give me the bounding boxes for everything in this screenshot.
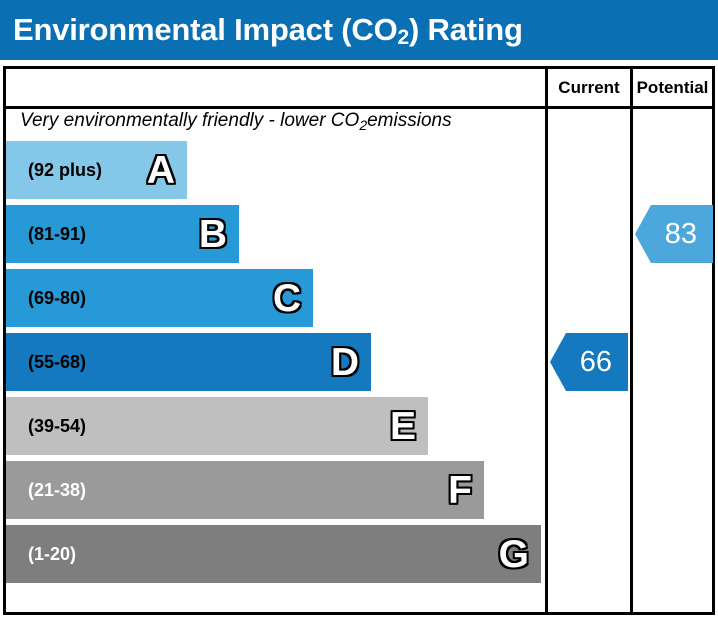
caption-top-tail: emissions <box>367 110 451 132</box>
page-title: Environmental Impact (CO2) Rating <box>0 12 523 48</box>
band-bar-e: (39-54)E <box>6 397 428 455</box>
band-bar-c: (69-80)C <box>6 269 313 327</box>
band-letter-a: A <box>147 151 175 190</box>
band-letter-f: F <box>448 471 472 510</box>
band-letter-g: G <box>499 535 529 574</box>
potential-column-divider <box>630 69 633 612</box>
band-row: (81-91)B <box>6 202 545 266</box>
band-row: (39-54)E <box>6 394 545 458</box>
band-range-label: (39-54) <box>28 416 86 437</box>
caption-top-subscript: 2 <box>359 117 367 133</box>
caption-top-main: Very environmentally friendly - lower CO <box>20 110 359 132</box>
band-row: (1-20)G <box>6 522 545 586</box>
band-letter-b: B <box>199 215 227 254</box>
band-range-label: (55-68) <box>28 352 86 373</box>
band-row: (92 plus)A <box>6 138 545 202</box>
column-header-potential: Potential <box>633 69 712 106</box>
band-letter-e: E <box>390 407 416 446</box>
band-range-label: (81-91) <box>28 224 86 245</box>
band-bar-g: (1-20)G <box>6 525 541 583</box>
page-title-main: Environmental Impact (CO <box>13 12 398 47</box>
band-range-label: (21-38) <box>28 480 86 501</box>
column-header-current: Current <box>548 69 630 106</box>
page-title-subscript: 2 <box>398 26 409 49</box>
band-letter-d: D <box>331 343 359 382</box>
band-bar-f: (21-38)F <box>6 461 484 519</box>
band-bar-b: (81-91)B <box>6 205 239 263</box>
epc-environmental-impact-chart: Environmental Impact (CO2) Rating Curren… <box>0 0 718 619</box>
band-bars-group: (92 plus)A(81-91)B(69-80)C(55-68)D(39-54… <box>6 138 545 586</box>
current-rating-arrow: 66 <box>550 333 628 391</box>
bands-pane: Very environmentally friendly - lower CO… <box>6 106 545 612</box>
ratings-table: Current Potential Very environmentally f… <box>3 66 715 615</box>
current-column-divider <box>545 69 548 612</box>
band-row: (69-80)C <box>6 266 545 330</box>
band-letter-c: C <box>273 279 301 318</box>
band-bar-a: (92 plus)A <box>6 141 187 199</box>
chart-title-bar: Environmental Impact (CO2) Rating <box>0 0 718 60</box>
band-range-label: (69-80) <box>28 288 86 309</box>
page-title-tail: ) Rating <box>409 12 523 47</box>
caption-top: Very environmentally friendly - lower CO… <box>20 106 452 136</box>
potential-rating-arrow: 83 <box>635 205 713 263</box>
band-range-label: (1-20) <box>28 544 76 565</box>
band-row: (21-38)F <box>6 458 545 522</box>
band-bar-d: (55-68)D <box>6 333 371 391</box>
band-range-label: (92 plus) <box>28 160 102 181</box>
band-row: (55-68)D <box>6 330 545 394</box>
